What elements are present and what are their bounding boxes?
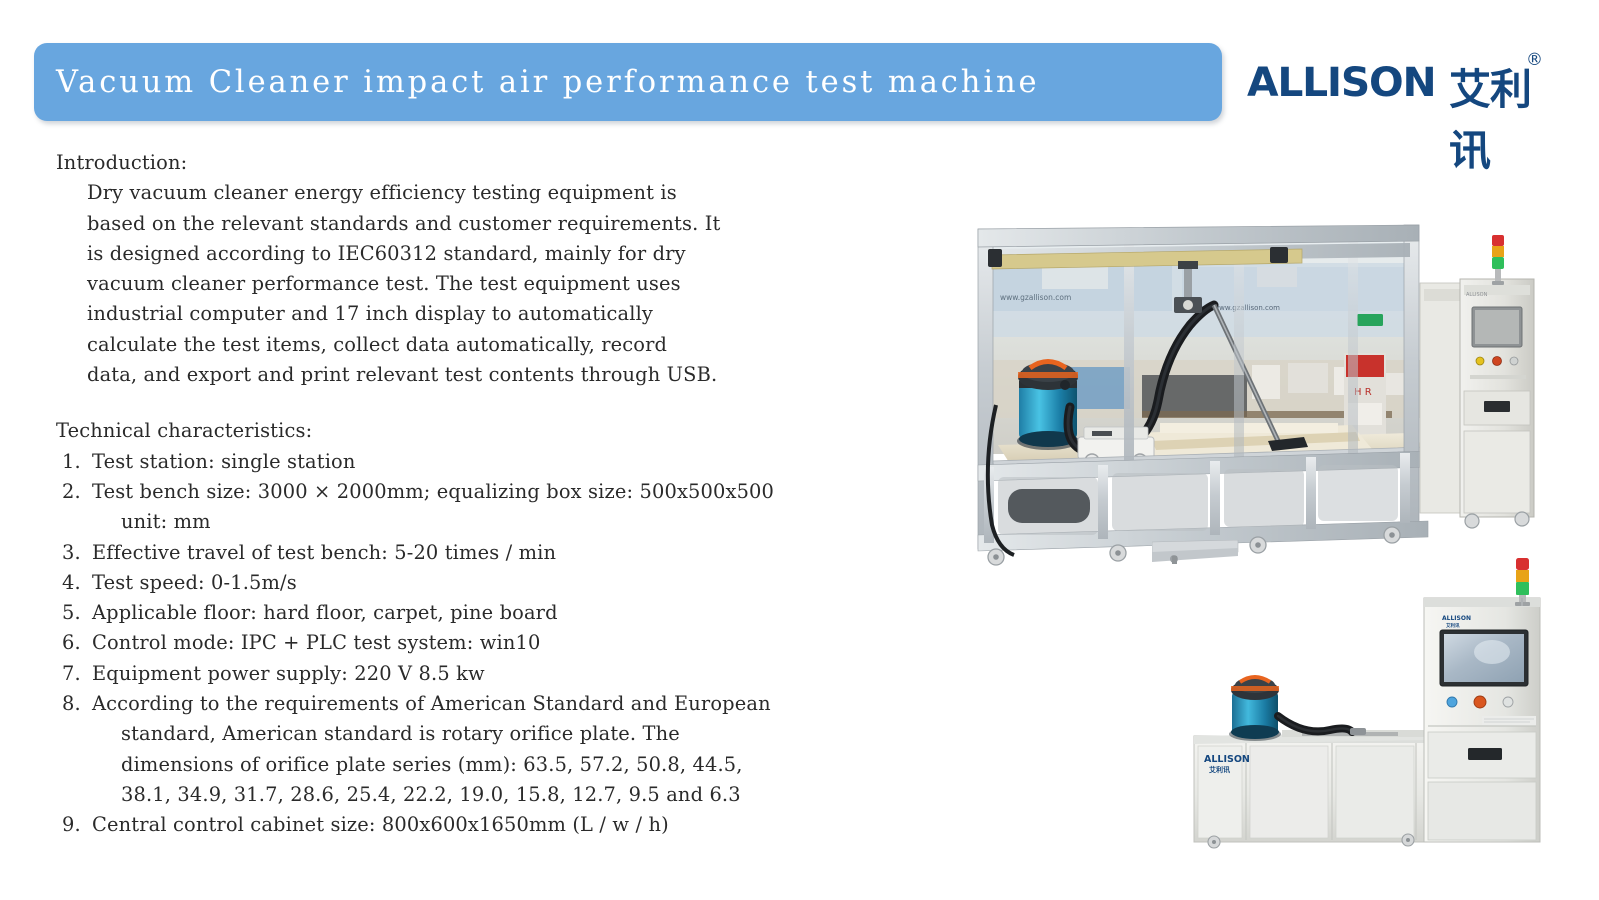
- introduction-line: is designed according to IEC60312 standa…: [56, 239, 916, 269]
- content-text-column: Introduction: Dry vacuum cleaner energy …: [56, 148, 916, 841]
- banner-url-left: www.gzallison.com: [1000, 293, 1071, 302]
- machine-photo-open-bench-graphic: www.gzallison.com http://www.gzallison.c…: [952, 205, 1544, 595]
- page-title: Vacuum Cleaner impact air performance te…: [34, 65, 1039, 100]
- spec-item-line: Control mode: IPC + PLC test system: win…: [92, 628, 916, 658]
- console-logo-chinese: 艾利讯: [1446, 622, 1460, 629]
- spec-item: 2. Test bench size: 3000 × 2000mm; equal…: [56, 477, 916, 538]
- page-title-banner: Vacuum Cleaner impact air performance te…: [34, 43, 1222, 121]
- introduction-heading: Introduction:: [56, 148, 916, 178]
- spec-item-line: Test bench size: 3000 × 2000mm; equalizi…: [92, 477, 916, 507]
- introduction-line: calculate the test items, collect data a…: [56, 330, 916, 360]
- technical-heading: Technical characteristics:: [56, 416, 916, 446]
- introduction-line: Dry vacuum cleaner energy efficiency tes…: [56, 178, 916, 208]
- spec-item-number: 8.: [62, 689, 92, 810]
- introduction-line: industrial computer and 17 inch display …: [56, 299, 916, 329]
- spec-item-number: 2.: [62, 477, 92, 538]
- signal-light-red: [1516, 558, 1529, 570]
- spec-item: 8. According to the requirements of Amer…: [56, 689, 916, 810]
- console-button-emergency-stop: [1474, 696, 1486, 708]
- registered-trademark-icon: ®: [1526, 50, 1543, 70]
- brand-logo-chinese: 艾利讯: [1449, 56, 1547, 178]
- spec-item-line: unit: mm: [92, 507, 916, 537]
- spec-item-line: According to the requirements of America…: [92, 689, 916, 719]
- spec-item: 5. Applicable floor: hard floor, carpet,…: [56, 598, 916, 628]
- introduction-line: based on the relevant standards and cust…: [56, 209, 916, 239]
- spec-item: 6. Control mode: IPC + PLC test system: …: [56, 628, 916, 658]
- slide-page: Vacuum Cleaner impact air performance te…: [0, 0, 1599, 900]
- section-spacer: [56, 390, 916, 416]
- spec-item-line: Test station: single station: [92, 447, 916, 477]
- spec-item-number: 7.: [62, 659, 92, 689]
- spec-item-line: Applicable floor: hard floor, carpet, pi…: [92, 598, 916, 628]
- spec-item-line: dimensions of orifice plate series (mm):…: [92, 750, 916, 780]
- spec-item: 1. Test station: single station: [56, 447, 916, 477]
- spec-item-number: 1.: [62, 447, 92, 477]
- signal-light-amber: [1492, 246, 1504, 257]
- introduction-line: data, and export and print relevant test…: [56, 360, 916, 390]
- spec-item-number: 5.: [62, 598, 92, 628]
- spec-item-line: Central control cabinet size: 800x600x16…: [92, 810, 916, 840]
- machine-photo-enclosed-bench-graphic: ALLISON 艾利讯: [1152, 540, 1547, 860]
- signal-light-green: [1516, 582, 1529, 595]
- spec-item: 3. Effective travel of test bench: 5-20 …: [56, 538, 916, 568]
- bench-logo-wordmark: ALLISON: [1204, 754, 1250, 765]
- spec-item-number: 4.: [62, 568, 92, 598]
- brand-logo-wordmark: ALLISON: [1247, 60, 1435, 106]
- machine-photo-enclosed-bench: ALLISON 艾利讯: [1152, 540, 1547, 860]
- signal-light-green: [1492, 257, 1504, 269]
- spec-item: 7. Equipment power supply: 220 V 8.5 kw: [56, 659, 916, 689]
- spec-item-line: 38.1, 34.9, 31.7, 28.6, 25.4, 22.2, 19.0…: [92, 780, 916, 810]
- signal-light-amber: [1516, 570, 1529, 582]
- console-button-white: [1503, 697, 1513, 707]
- spec-item-line: Test speed: 0-1.5m/s: [92, 568, 916, 598]
- spec-item: 9. Central control cabinet size: 800x600…: [56, 810, 916, 840]
- machine-photo-open-bench: www.gzallison.com http://www.gzallison.c…: [952, 205, 1544, 595]
- signal-light-red: [1492, 235, 1504, 246]
- brand-logo: ALLISON 艾利讯 ®: [1247, 50, 1547, 112]
- spec-item-number: 6.: [62, 628, 92, 658]
- spec-item-line: Effective travel of test bench: 5-20 tim…: [92, 538, 916, 568]
- spec-item-number: 9.: [62, 810, 92, 840]
- console-logo-wordmark: ALLISON: [1442, 615, 1471, 622]
- spec-item-number: 3.: [62, 538, 92, 568]
- svg-text:ALLISON: ALLISON: [1466, 292, 1488, 298]
- spec-item-line: Equipment power supply: 220 V 8.5 kw: [92, 659, 916, 689]
- spec-item-line: standard, American standard is rotary or…: [92, 719, 916, 749]
- bench-logo-chinese: 艾利讯: [1209, 765, 1230, 774]
- spec-item: 4. Test speed: 0-1.5m/s: [56, 568, 916, 598]
- console-button-blue: [1447, 697, 1457, 707]
- introduction-line: vacuum cleaner performance test. The tes…: [56, 269, 916, 299]
- console-slot: [1468, 748, 1502, 760]
